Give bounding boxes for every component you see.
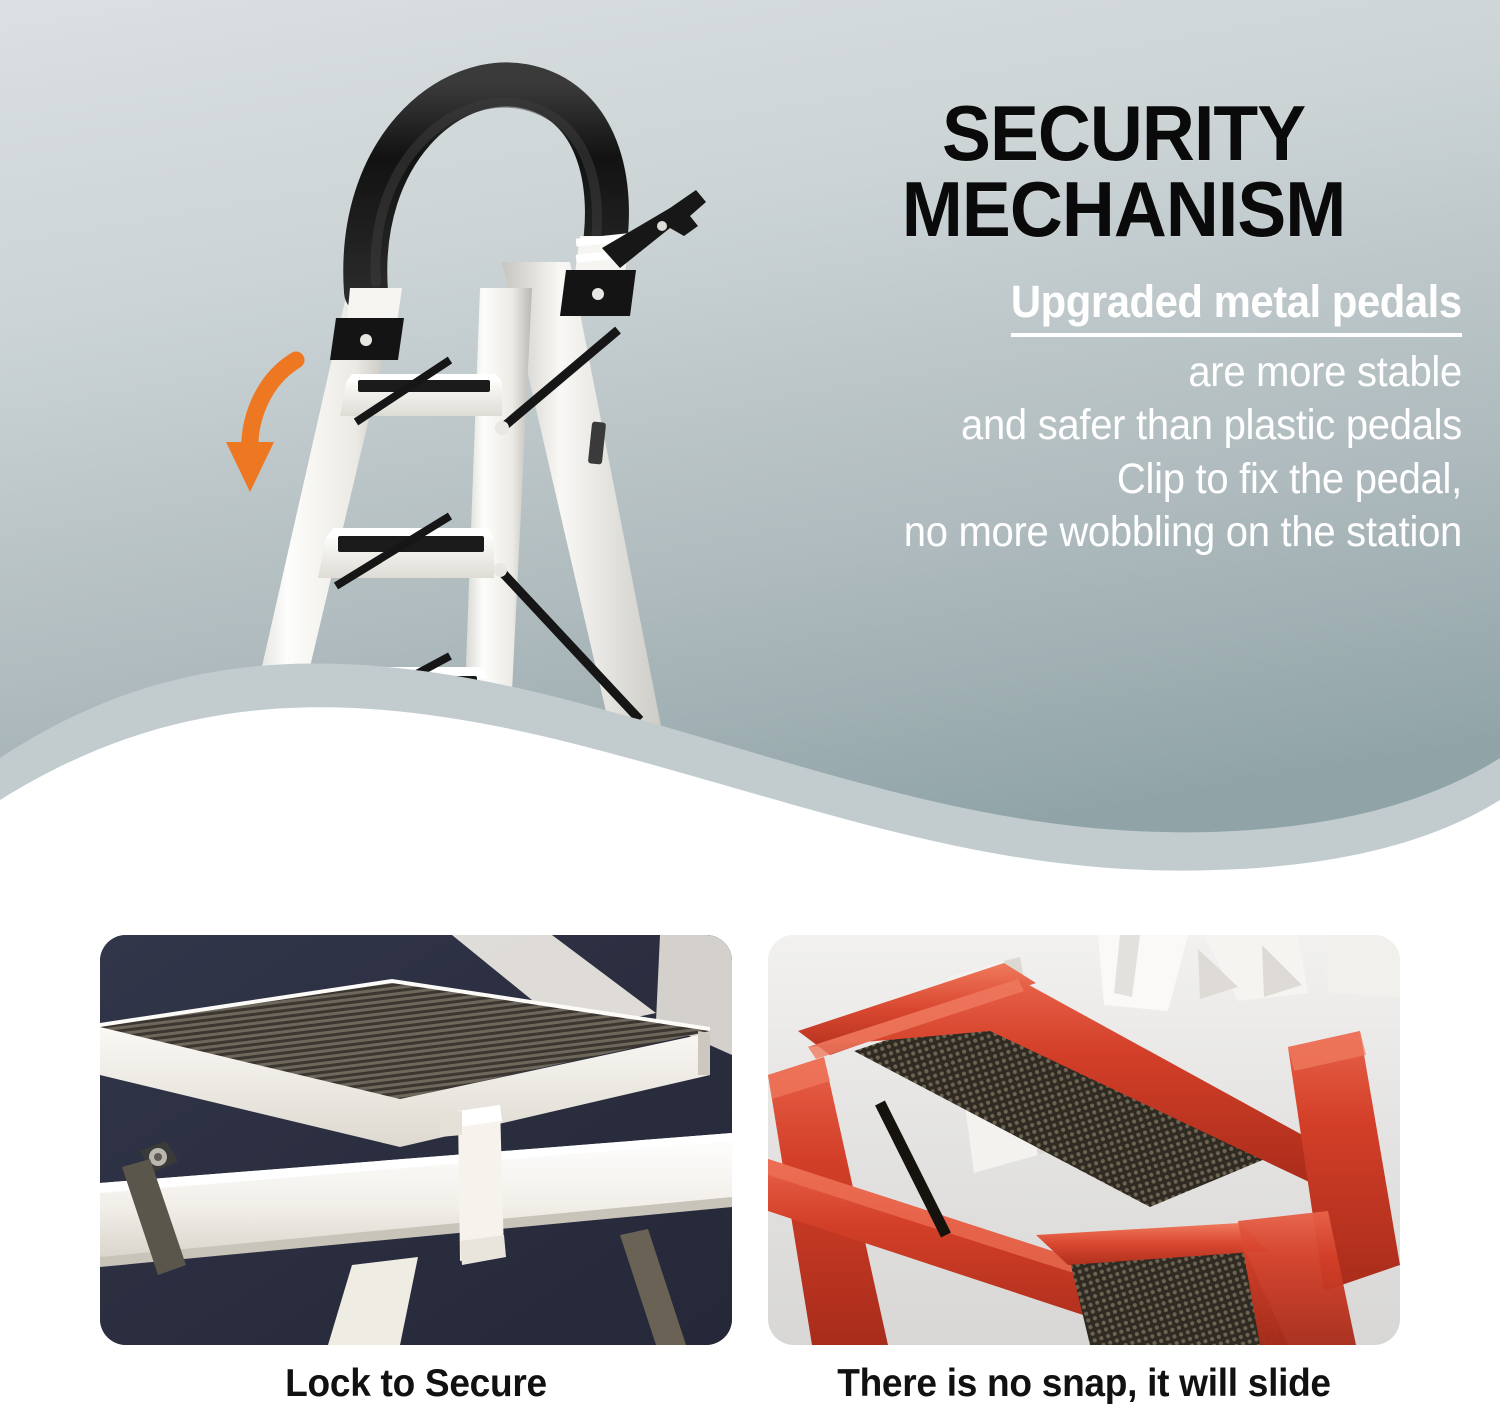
caption-no-snap: There is no snap, it will slide [784, 1362, 1384, 1406]
subhead-line-1: are more stable [792, 347, 1462, 399]
caption-lock-to-secure: Lock to Secure [116, 1362, 716, 1406]
headline-line-1: SECURITY [942, 89, 1305, 177]
lock-to-secure-photo [100, 935, 732, 1345]
subhead-line-2: and safer than plastic pedals [792, 400, 1462, 452]
detail-photo-row: Lock to Secure [0, 880, 1500, 1425]
subhead-emphasis: Upgraded metal pedals [1011, 277, 1462, 336]
photo-card-lock-to-secure[interactable] [100, 935, 732, 1345]
photo-card-no-snap[interactable] [768, 935, 1400, 1345]
hero-copy: SECURITY MECHANISM Upgraded metal pedals… [742, 96, 1462, 559]
headline-line-2: MECHANISM [785, 172, 1462, 248]
fold-direction-arrow [226, 360, 296, 492]
no-snap-photo [768, 935, 1400, 1345]
wave-divider [0, 640, 1500, 880]
ladder-step-middle [318, 528, 494, 578]
ladder-grip-handle [365, 84, 607, 292]
product-feature-banner: SECURITY MECHANISM Upgraded metal pedals… [0, 0, 1500, 1425]
page-title: SECURITY MECHANISM [785, 96, 1462, 247]
hero-section: SECURITY MECHANISM Upgraded metal pedals… [0, 0, 1500, 880]
subhead-line-3: Clip to fix the pedal, [792, 454, 1462, 506]
subhead-line-4: no more wobbling on the station [792, 507, 1462, 559]
hero-subhead: Upgraded metal pedals are more stable an… [742, 277, 1462, 559]
